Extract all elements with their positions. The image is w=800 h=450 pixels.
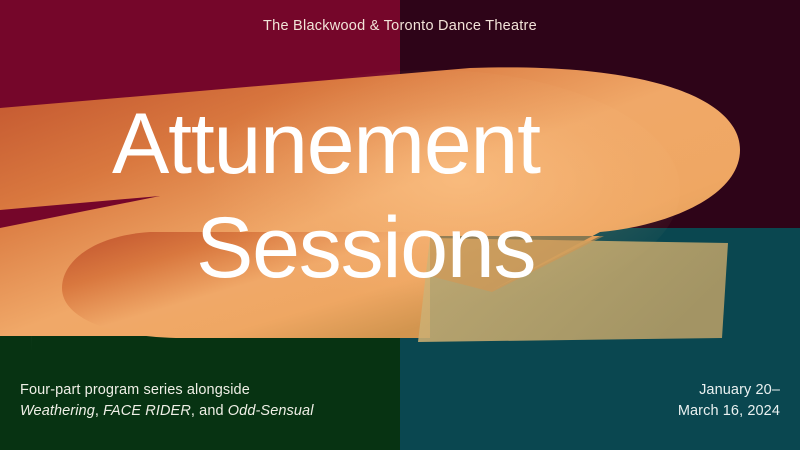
program-series-note: Four-part program series alongside Weath… [20,380,314,422]
date-range: January 20– March 16, 2024 [678,380,780,422]
program-series-line-1: Four-part program series alongside [20,380,314,401]
series-title-face-rider: FACE RIDER [103,403,191,419]
series-title-weathering: Weathering [20,403,95,419]
series-separator-2: , and [191,403,228,419]
date-range-line-1: January 20– [678,380,780,401]
organization-name: The Blackwood & Toronto Dance Theatre [0,18,800,34]
page-title: Attunement Sessions [0,92,800,300]
headline-line-primary: Attunement [0,92,800,196]
date-range-line-2: March 16, 2024 [678,401,780,422]
poster-canvas: The Blackwood & Toronto Dance Theatre At… [0,0,800,450]
series-separator-1: , [95,403,103,419]
program-series-line-2: Weathering, FACE RIDER, and Odd-Sensual [20,401,314,422]
series-title-odd-sensual: Odd-Sensual [228,403,314,419]
headline-line-secondary: Sessions [0,196,800,300]
